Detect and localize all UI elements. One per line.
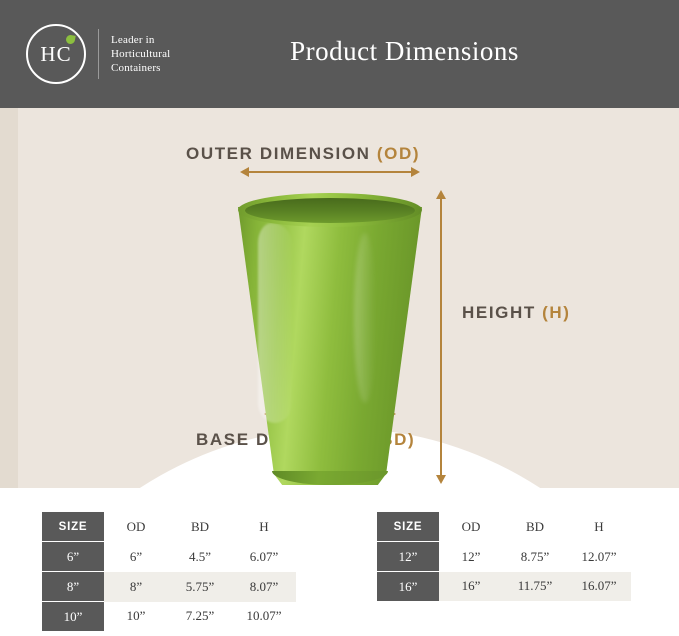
label-outer-dimension-abbr: (OD) (377, 144, 420, 163)
table-row: 6” 6” 4.5” 6.07” (42, 542, 296, 572)
header-bar: HC Leader in Horticultural Containers Pr… (0, 0, 679, 108)
planter-pot-image (236, 193, 424, 485)
cell-size: 12” (377, 542, 439, 572)
cell-h: 10.07” (232, 602, 296, 632)
table-row: 12” 12” 8.75” 12.07” (377, 542, 631, 572)
label-outer-dimension: OUTER DIMENSION (OD) (186, 144, 420, 164)
label-height-text: HEIGHT (462, 303, 542, 322)
column-header-bd: BD (503, 512, 567, 542)
table-header-row: SIZE OD BD H (42, 512, 296, 542)
cell-size: 6” (42, 542, 104, 572)
left-band (0, 108, 18, 488)
dimension-table-large-sizes: SIZE OD BD H 12” 12” 8.75” 12.07” 16” 16… (377, 512, 631, 601)
cell-od: 16” (439, 572, 503, 602)
cell-h: 16.07” (567, 572, 631, 602)
dimension-tables: SIZE OD BD H 6” 6” 4.5” 6.07” 8” 8” 5.75… (0, 488, 679, 636)
product-dimensions-infographic: HC Leader in Horticultural Containers Pr… (0, 0, 679, 636)
column-header-od: OD (104, 512, 168, 542)
table-header-row: SIZE OD BD H (377, 512, 631, 542)
cell-size: 10” (42, 602, 104, 632)
column-header-od: OD (439, 512, 503, 542)
cell-bd: 8.75” (503, 542, 567, 572)
cell-h: 12.07” (567, 542, 631, 572)
cell-od: 8” (104, 572, 168, 602)
column-header-h: H (567, 512, 631, 542)
cell-od: 10” (104, 602, 168, 632)
outer-dimension-arrow (248, 171, 412, 173)
column-header-bd: BD (168, 512, 232, 542)
cell-bd: 7.25” (168, 602, 232, 632)
cell-bd: 5.75” (168, 572, 232, 602)
diagram-panel: OUTER DIMENSION (OD) BASE DIMENSION (BD)… (0, 108, 679, 488)
cell-bd: 4.5” (168, 542, 232, 572)
pot-highlight-left (258, 223, 292, 423)
table-row: 10” 10” 7.25” 10.07” (42, 602, 296, 632)
dimension-table-small-sizes: SIZE OD BD H 6” 6” 4.5” 6.07” 8” 8” 5.75… (42, 512, 296, 631)
cell-bd: 11.75” (503, 572, 567, 602)
height-arrow (440, 198, 442, 476)
pot-highlight-right (354, 233, 376, 403)
column-header-h: H (232, 512, 296, 542)
cell-size: 16” (377, 572, 439, 602)
page-title: Product Dimensions (0, 36, 679, 67)
column-header-size: SIZE (42, 512, 104, 542)
column-header-size: SIZE (377, 512, 439, 542)
label-outer-dimension-text: OUTER DIMENSION (186, 144, 377, 163)
pot-rim-inner (245, 198, 415, 223)
cell-od: 12” (439, 542, 503, 572)
cell-size: 8” (42, 572, 104, 602)
cell-od: 6” (104, 542, 168, 572)
cell-h: 8.07” (232, 572, 296, 602)
table-row: 16” 16” 11.75” 16.07” (377, 572, 631, 602)
label-height: HEIGHT (H) (462, 303, 571, 323)
cell-h: 6.07” (232, 542, 296, 572)
table-row: 8” 8” 5.75” 8.07” (42, 572, 296, 602)
label-height-abbr: (H) (542, 303, 570, 322)
pot-body (236, 193, 424, 485)
